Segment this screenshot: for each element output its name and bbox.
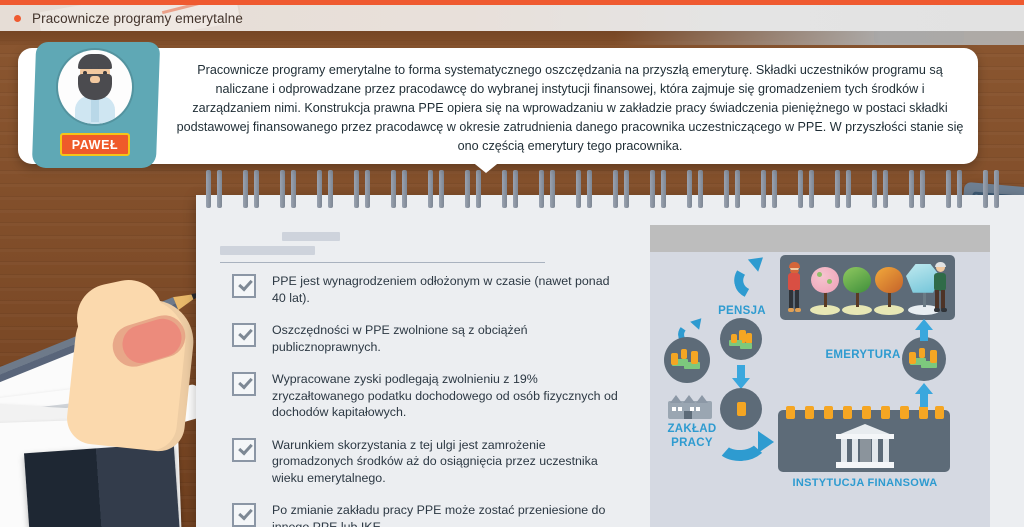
spiral-ring <box>735 170 740 208</box>
bank-building-icon <box>836 424 894 468</box>
elderly-man-figure <box>932 263 948 313</box>
spiral-ring <box>761 170 766 208</box>
checklist-item-label: PPE jest wynagrodzeniem odłożonym w czas… <box>272 273 622 306</box>
diagram-top-band <box>650 225 990 252</box>
spiral-ring <box>254 170 259 208</box>
spiral-ring <box>946 170 951 208</box>
spiral-ring <box>909 170 914 208</box>
checkmark-icon[interactable] <box>232 438 256 462</box>
spiral-ring <box>920 170 925 208</box>
arrow-stem <box>920 329 928 341</box>
spiral-ring <box>317 170 322 208</box>
header-divider <box>220 262 545 263</box>
checklist: PPE jest wynagrodzeniem odłożonym w czas… <box>232 273 622 527</box>
spiral-ring <box>698 170 703 208</box>
spiral-ring <box>217 170 222 208</box>
tree-spring-icon <box>808 265 842 315</box>
spiral-ring <box>661 170 666 208</box>
spiral-ring <box>883 170 888 208</box>
young-man-figure <box>786 263 802 313</box>
pension-flow-diagram: PENSJA <box>650 225 990 527</box>
placeholder-bar <box>220 246 315 255</box>
label-emerytura: EMERYTURA <box>818 349 908 363</box>
checklist-item[interactable]: PPE jest wynagrodzeniem odłożonym w czas… <box>232 273 622 306</box>
spiral-ring <box>994 170 999 208</box>
placeholder-bar <box>282 232 340 241</box>
arrow-head <box>758 431 774 453</box>
spiral-ring <box>809 170 814 208</box>
factory-icon <box>666 393 716 419</box>
spiral-ring <box>280 170 285 208</box>
arrow-up-icon <box>915 383 933 394</box>
checkmark-icon[interactable] <box>232 503 256 527</box>
checklist-item-label: Wypracowane zyski podlegają zwolnieniu z… <box>272 371 622 421</box>
spiral-ring <box>650 170 655 208</box>
spiral-ring <box>846 170 851 208</box>
avatar-name-badge: PAWEŁ <box>60 133 130 156</box>
spiral-ring <box>983 170 988 208</box>
tree-summer-icon <box>840 265 874 315</box>
spiral-ring <box>291 170 296 208</box>
spiral-ring <box>354 170 359 208</box>
spiral-ring <box>550 170 555 208</box>
emerytura-money-circle <box>902 337 946 381</box>
spiral-ring <box>587 170 592 208</box>
checklist-item[interactable]: Warunkiem skorzystania z tej ulgi jest z… <box>232 437 622 487</box>
checkmark-icon[interactable] <box>232 372 256 396</box>
checklist-item[interactable]: Oszczędności w PPE zwolnione są z obciąż… <box>232 322 622 355</box>
spiral-ring <box>513 170 518 208</box>
spiral-ring <box>576 170 581 208</box>
checklist-item-label: Warunkiem skorzystania z tej ulgi jest z… <box>272 437 622 487</box>
zaklad-money-circle <box>664 337 710 383</box>
notepad-header-placeholder <box>220 232 640 263</box>
life-stages-panel <box>780 255 955 320</box>
label-pensja: PENSJA <box>702 305 782 319</box>
screen-root: PPE jest wynagrodzeniem odłożonym w czas… <box>0 0 1024 527</box>
pensja-money-circle <box>720 318 762 360</box>
page-title: Pracownicze programy emerytalne <box>32 11 243 26</box>
checklist-item[interactable]: Wypracowane zyski podlegają zwolnieniu z… <box>232 371 622 421</box>
bank-panel <box>778 410 950 472</box>
spiral-ring <box>402 170 407 208</box>
checklist-item[interactable]: Po zmianie zakładu pracy PPE może zostać… <box>232 502 622 527</box>
spiral-ring <box>539 170 544 208</box>
avatar-eyebrow <box>98 65 111 69</box>
spiral-ring <box>243 170 248 208</box>
tree-autumn-icon <box>872 265 906 315</box>
checklist-item-label: Po zmianie zakładu pracy PPE może zostać… <box>272 502 622 527</box>
spiral-ring <box>835 170 840 208</box>
checkmark-icon[interactable] <box>232 323 256 347</box>
spiral-ring <box>798 170 803 208</box>
spiral-ring <box>872 170 877 208</box>
label-instytucja-finansowa: INSTYTUCJA FINANSOWA <box>770 477 960 491</box>
arrow-up-icon <box>915 319 933 330</box>
avatar <box>58 50 132 124</box>
spiral-ring <box>206 170 211 208</box>
notepad: PPE jest wynagrodzeniem odłożonym w czas… <box>196 195 1024 527</box>
header-gray-band <box>0 31 1024 45</box>
avatar-mouth-area <box>90 76 100 83</box>
bullet-dot-icon <box>14 15 21 22</box>
spiral-ring <box>328 170 333 208</box>
spiral-ring <box>724 170 729 208</box>
arrow-stem <box>920 393 928 407</box>
spiral-binding <box>196 170 1024 212</box>
spiral-ring <box>772 170 777 208</box>
spiral-ring <box>439 170 444 208</box>
spiral-ring <box>465 170 470 208</box>
spiral-ring <box>687 170 692 208</box>
spiral-ring <box>613 170 618 208</box>
spiral-ring <box>428 170 433 208</box>
header-title-group[interactable]: Pracownicze programy emerytalne <box>14 5 243 31</box>
checklist-item-label: Oszczędności w PPE zwolnione są z obciąż… <box>272 322 622 355</box>
spiral-ring <box>624 170 629 208</box>
spiral-ring <box>365 170 370 208</box>
spiral-ring <box>476 170 481 208</box>
spiral-ring <box>957 170 962 208</box>
spiral-ring <box>502 170 507 208</box>
avatar-eyebrow <box>79 65 92 69</box>
bubble-paragraph: Pracownicze programy emerytalne to forma… <box>176 58 964 158</box>
spiral-ring <box>391 170 396 208</box>
arrow-stem <box>737 365 745 379</box>
folder-icon <box>24 443 182 527</box>
checkmark-icon[interactable] <box>232 274 256 298</box>
speech-bubble-tail <box>470 160 502 173</box>
